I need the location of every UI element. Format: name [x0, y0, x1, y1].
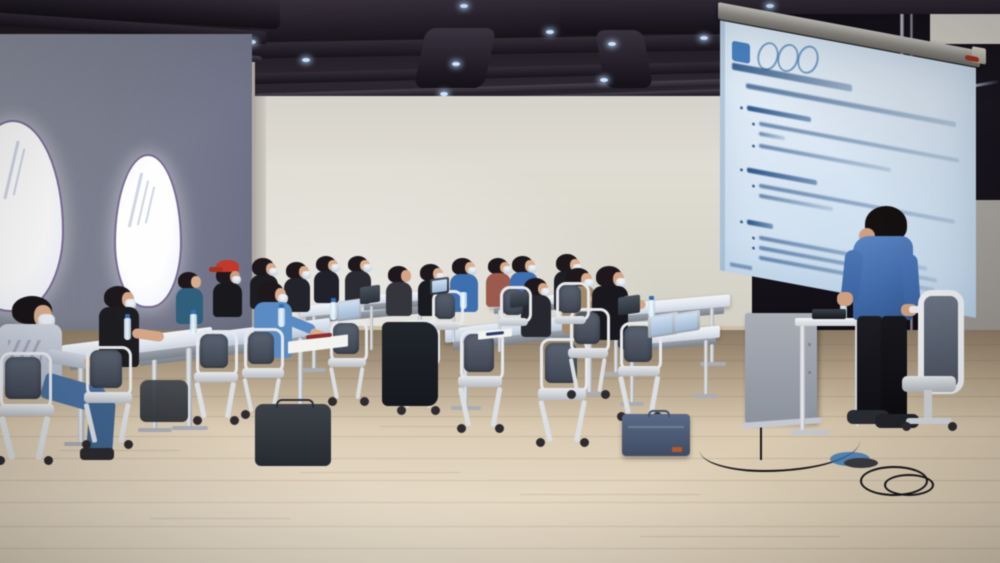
podium-laptop[interactable] [812, 309, 846, 319]
backpack [140, 380, 188, 422]
oval-window-large [0, 122, 62, 310]
ceiling-light-icon [546, 30, 554, 34]
water-bottle [278, 308, 285, 327]
ceiling-light-icon [302, 58, 310, 62]
floor-cable [884, 474, 934, 496]
ceiling-light-icon [600, 78, 608, 82]
slide-section-head [747, 219, 773, 229]
ergonomic-chair[interactable] [900, 290, 960, 440]
slide-body-line [759, 184, 955, 224]
jacket-on-chair [382, 322, 438, 406]
slide-body-line [759, 132, 785, 141]
training-room-photo [0, 0, 1000, 563]
podium-foot [790, 430, 830, 435]
slide-footer-text [730, 262, 752, 270]
ceiling-light-icon [452, 62, 460, 66]
folded-table-panel [745, 313, 817, 423]
water-bottle [124, 318, 131, 340]
ceiling-light-icon [460, 4, 468, 8]
water-bottle [190, 314, 197, 334]
floor-cable [844, 458, 878, 468]
slide-body-line [759, 144, 891, 172]
water-bottle [648, 300, 655, 317]
ceiling-light-icon [766, 4, 774, 8]
backpack [255, 404, 331, 466]
ceiling-light-icon [608, 42, 616, 46]
podium-leg [800, 326, 805, 434]
water-bottle [330, 302, 337, 320]
ceiling-light-icon [700, 36, 708, 40]
slide-section-head [747, 167, 817, 185]
upper-right-wall [930, 14, 1000, 44]
water-bottle [460, 292, 467, 309]
slide-body-line [759, 122, 959, 163]
slide-section-head [747, 105, 811, 122]
laptop-bag [622, 414, 690, 456]
oval-window-small [116, 156, 180, 306]
